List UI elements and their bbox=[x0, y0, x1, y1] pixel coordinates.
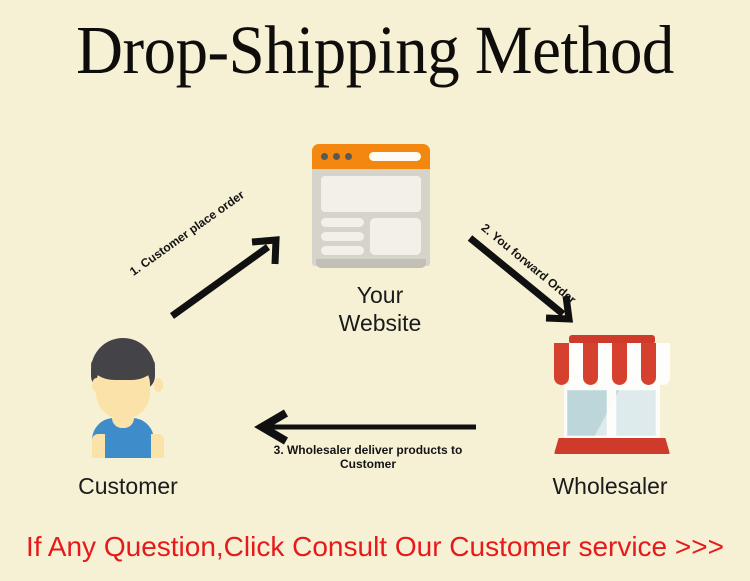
browser-text-line bbox=[321, 218, 364, 227]
arrow-label-3: 3. Wholesaler deliver products to Custom… bbox=[255, 443, 481, 471]
awning-stripe bbox=[627, 343, 642, 385]
node-label-wholesaler: Wholesaler bbox=[530, 472, 690, 500]
storefront-icon bbox=[551, 333, 673, 458]
browser-url-bar bbox=[369, 152, 421, 161]
browser-hero-block bbox=[321, 176, 421, 212]
infographic-canvas: Drop-Shipping Method Your Website Custom… bbox=[0, 0, 750, 581]
awning-stripe bbox=[554, 343, 569, 385]
person-avatar-icon bbox=[83, 338, 173, 458]
awning-stripe bbox=[583, 343, 598, 385]
customer-service-cta[interactable]: If Any Question,Click Consult Our Custom… bbox=[0, 529, 750, 565]
arrow-3 bbox=[262, 413, 476, 441]
browser-text-line bbox=[321, 246, 364, 255]
page-title: Drop-Shipping Method bbox=[23, 8, 728, 92]
browser-window-icon bbox=[312, 144, 430, 275]
node-label-customer: Customer bbox=[48, 472, 208, 500]
awning-stripe bbox=[641, 343, 656, 385]
arrow-label-2: 2. You forward Order bbox=[479, 221, 579, 307]
arrow-label-1: 1. Customer place order bbox=[127, 188, 247, 279]
browser-base-bar bbox=[316, 259, 426, 268]
avatar-arm-left bbox=[92, 434, 105, 458]
browser-content-block bbox=[370, 218, 421, 255]
shop-awning-stripes bbox=[554, 343, 670, 385]
browser-dot-icon bbox=[333, 153, 340, 160]
avatar-fringe bbox=[91, 356, 155, 380]
browser-dot-icon bbox=[321, 153, 328, 160]
browser-text-line bbox=[321, 232, 364, 241]
awning-stripe bbox=[612, 343, 627, 385]
shop-window bbox=[567, 390, 607, 436]
shop-base bbox=[554, 438, 670, 454]
awning-stripe bbox=[598, 343, 613, 385]
avatar-arm-right bbox=[151, 434, 164, 458]
avatar-ear-right bbox=[154, 378, 163, 392]
awning-stripe bbox=[569, 343, 584, 385]
browser-dot-icon bbox=[345, 153, 352, 160]
shop-window bbox=[616, 390, 656, 436]
node-label-website: Your Website bbox=[300, 281, 460, 337]
arrow-1 bbox=[172, 240, 276, 316]
awning-stripe bbox=[656, 343, 671, 385]
